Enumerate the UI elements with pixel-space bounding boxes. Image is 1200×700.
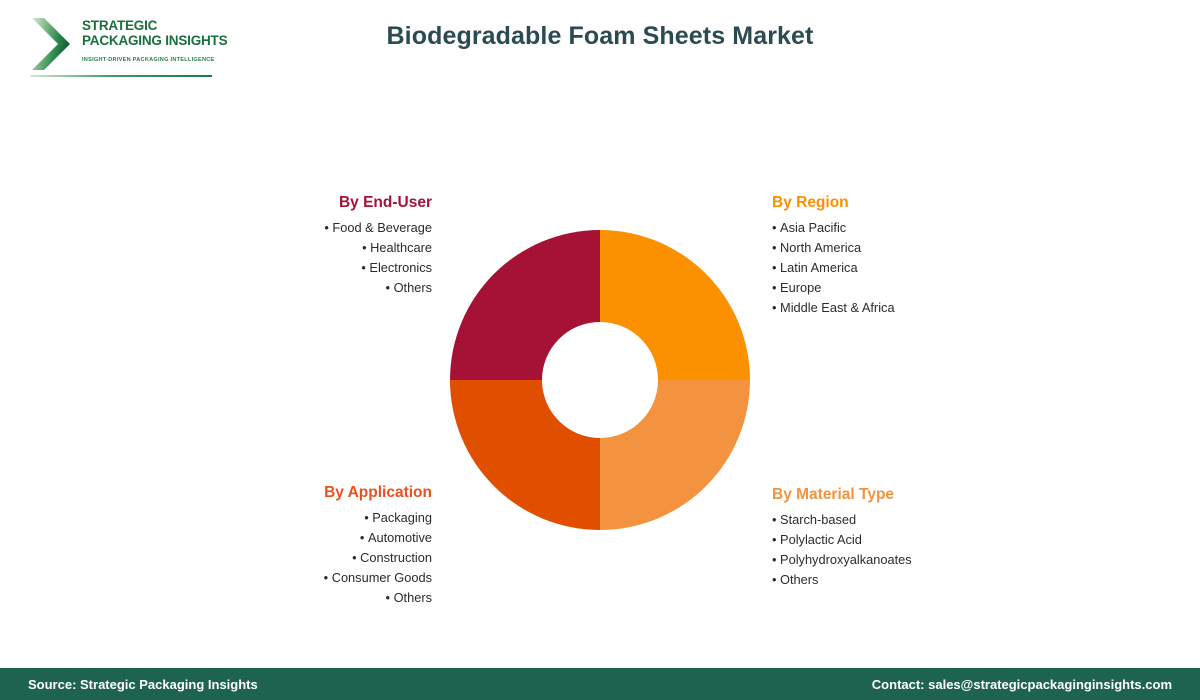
donut-center-hole xyxy=(542,322,658,438)
list-item: Latin America xyxy=(772,258,1072,278)
donut-chart xyxy=(450,230,750,530)
segment-title-material-type: By Material Type xyxy=(772,485,1082,504)
page-title: Biodegradable Foam Sheets Market xyxy=(0,22,1200,51)
segment-title-application: By Application xyxy=(130,483,432,502)
list-item: Asia Pacific xyxy=(772,218,1072,238)
segment-title-region: By Region xyxy=(772,193,1072,212)
logo-tagline: INSIGHT-DRIVEN PACKAGING INTELLIGENCE xyxy=(82,57,212,63)
segment-list-application: PackagingAutomotiveConstructionConsumer … xyxy=(130,508,432,608)
logo-underline-rule xyxy=(30,75,212,77)
list-item: Construction xyxy=(130,548,432,568)
list-item: Europe xyxy=(772,278,1072,298)
segment-block-end-user: By End-User Food & BeverageHealthcareEle… xyxy=(150,193,432,298)
list-item: Polyhydroxyalkanoates xyxy=(772,550,1082,570)
segment-title-end-user: By End-User xyxy=(150,193,432,212)
list-item: Consumer Goods xyxy=(130,568,432,588)
footer-source: Source: Strategic Packaging Insights xyxy=(28,677,258,692)
list-item: Others xyxy=(772,570,1082,590)
list-item: Healthcare xyxy=(150,238,432,258)
list-item: Others xyxy=(130,588,432,608)
list-item: Others xyxy=(150,278,432,298)
infographic-page: STRATEGIC PACKAGING INSIGHTS INSIGHT-DRI… xyxy=(0,0,1200,700)
segment-block-application: By Application PackagingAutomotiveConstr… xyxy=(130,483,432,608)
list-item: Starch-based xyxy=(772,510,1082,530)
list-item: North America xyxy=(772,238,1072,258)
list-item: Middle East & Africa xyxy=(772,298,1072,318)
segment-list-end-user: Food & BeverageHealthcareElectronicsOthe… xyxy=(150,218,432,298)
segment-block-material-type: By Material Type Starch-basedPolylactic … xyxy=(772,485,1082,590)
list-item: Food & Beverage xyxy=(150,218,432,238)
footer-bar: Source: Strategic Packaging Insights Con… xyxy=(0,668,1200,700)
segment-list-material-type: Starch-basedPolylactic AcidPolyhydroxyal… xyxy=(772,510,1082,590)
list-item: Packaging xyxy=(130,508,432,528)
footer-contact[interactable]: Contact: sales@strategicpackaginginsight… xyxy=(872,677,1172,692)
list-item: Polylactic Acid xyxy=(772,530,1082,550)
segment-block-region: By Region Asia PacificNorth AmericaLatin… xyxy=(772,193,1072,318)
segment-list-region: Asia PacificNorth AmericaLatin AmericaEu… xyxy=(772,218,1072,318)
list-item: Automotive xyxy=(130,528,432,548)
list-item: Electronics xyxy=(150,258,432,278)
